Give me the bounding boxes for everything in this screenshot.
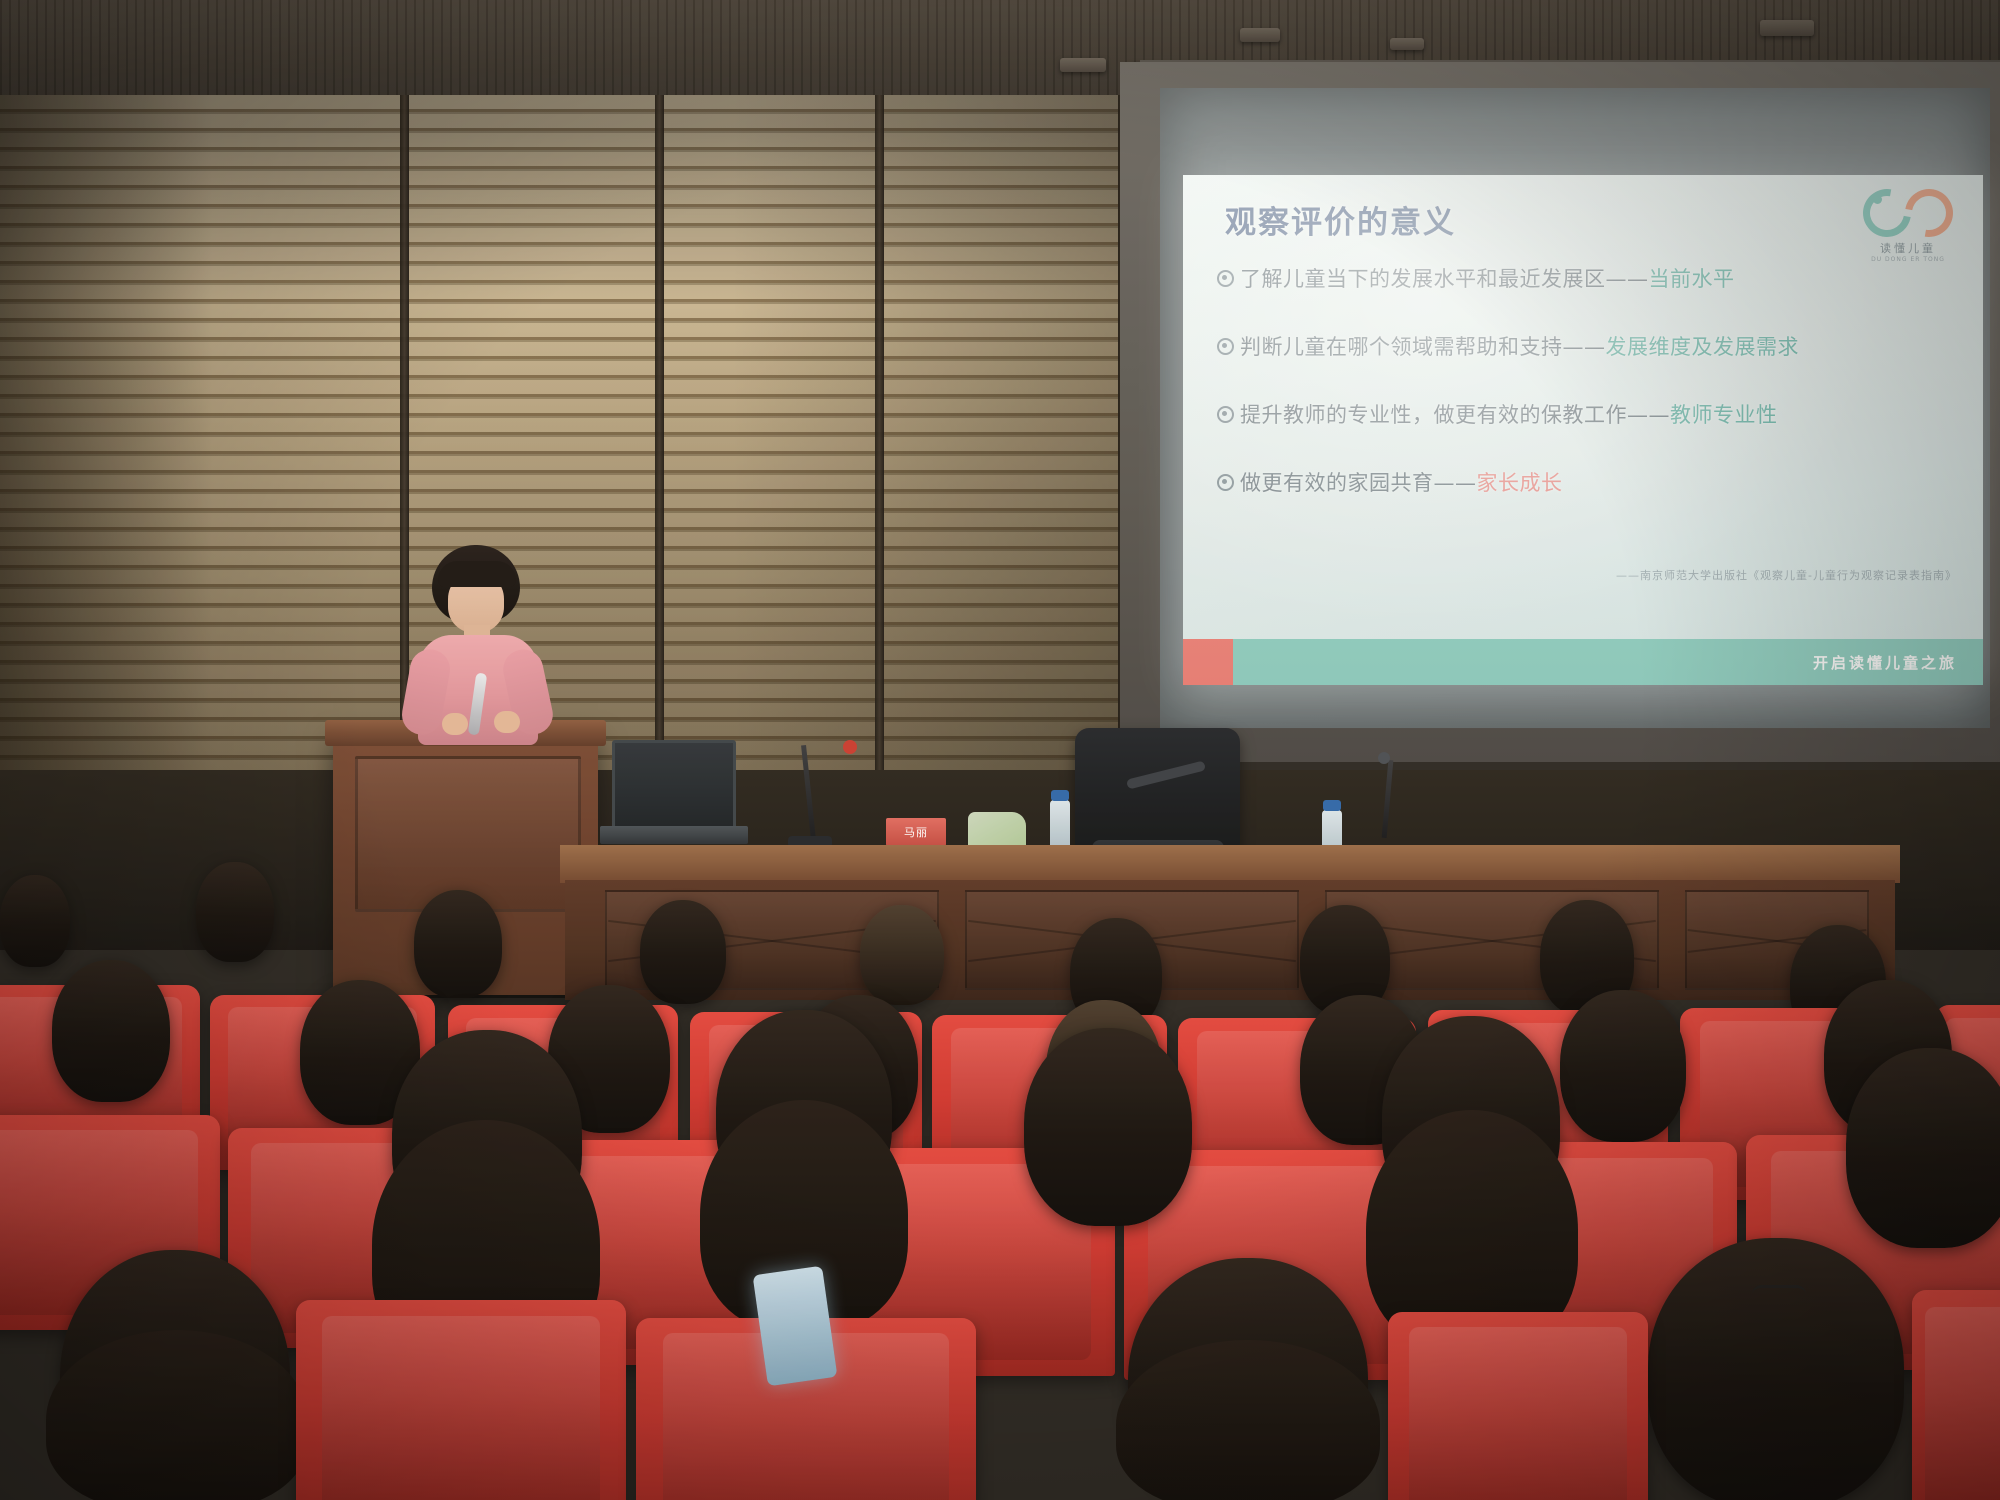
bullet-highlight: 教师专业性 — [1670, 403, 1778, 427]
ceiling-light-3 — [1060, 58, 1106, 72]
lecture-hall-photo: 观察评价的意义 读懂儿童 DU DONG ER TONG 了解儿童当下的发展水平… — [0, 0, 2000, 1500]
attendee-head — [414, 890, 502, 998]
conference-table-front — [565, 880, 1895, 1000]
bullet-text: 判断儿童在哪个领域需帮助和支持——发展维度及发展需求 — [1240, 331, 1799, 361]
auditorium-seat — [1388, 1312, 1648, 1500]
table-microphone-2-head-icon — [1378, 752, 1390, 764]
presenter — [390, 545, 570, 745]
presenter-bangs — [438, 561, 516, 587]
slide-citation: ——南京师范大学出版社《观察儿童-儿童行为观察记录表指南》 — [1616, 567, 1957, 583]
laptop-keyboard — [600, 826, 748, 844]
bullet-highlight: 发展维度及发展需求 — [1606, 335, 1800, 359]
ceiling-light-2 — [1390, 38, 1424, 50]
bullet-item: 了解儿童当下的发展水平和最近发展区——当前水平 — [1217, 263, 1957, 293]
footer-slogan: 开启读懂儿童之旅 — [1813, 652, 1983, 673]
nameplate: 马丽 — [886, 818, 946, 846]
bullet-dot-icon — [1217, 474, 1234, 491]
presenter-left-hand — [442, 713, 468, 735]
auditorium-seat — [296, 1300, 626, 1500]
attendee-head — [52, 960, 170, 1102]
logo-marks — [1863, 189, 1953, 237]
bullet-item: 提升教师的专业性，做更有效的保教工作——教师专业性 — [1217, 399, 1957, 429]
water-bottle-cap-2 — [1323, 800, 1341, 811]
presenter-right-hand — [494, 711, 520, 733]
attendee-head — [1846, 1048, 2000, 1248]
bullet-dot-icon — [1217, 338, 1234, 355]
attendee-hair — [1116, 1340, 1380, 1500]
podium-front-panel — [355, 756, 581, 912]
bullet-text: 做更有效的家园共育——家长成长 — [1240, 467, 1563, 497]
brand-logo: 读懂儿童 DU DONG ER TONG — [1863, 189, 1953, 263]
footer-teal-bar: 开启读懂儿童之旅 — [1233, 639, 1983, 685]
attendee-head — [860, 905, 944, 1005]
slide-bullet-list: 了解儿童当下的发展水平和最近发展区——当前水平 判断儿童在哪个领域需帮助和支持—… — [1217, 263, 1957, 535]
ceiling-light-4 — [1760, 20, 1814, 36]
bullet-item: 做更有效的家园共育——家长成长 — [1217, 467, 1957, 497]
presentation-slide: 观察评价的意义 读懂儿童 DU DONG ER TONG 了解儿童当下的发展水平… — [1183, 175, 1983, 685]
executive-chair-back — [1075, 728, 1240, 858]
bullet-text: 提升教师的专业性，做更有效的保教工作——教师专业性 — [1240, 399, 1778, 429]
water-bottle-cap-1 — [1051, 790, 1069, 801]
conference-table-top — [560, 845, 1900, 883]
bullet-text: 了解儿童当下的发展水平和最近发展区——当前水平 — [1240, 263, 1735, 293]
logo-circle-orange-icon — [1896, 180, 1963, 247]
table-microphone-head-icon — [843, 740, 857, 754]
wall-shading — [0, 95, 1180, 795]
bullet-highlight: 当前水平 — [1649, 267, 1735, 291]
slide-title: 观察评价的意义 — [1225, 197, 1456, 242]
nameplate-text: 马丽 — [904, 824, 928, 840]
logo-subtitle: DU DONG ER TONG — [1871, 256, 1945, 263]
attendee-head — [0, 875, 70, 967]
attendee-head — [1648, 1238, 1904, 1500]
ceiling-light-1 — [1240, 28, 1280, 42]
attendee-hair — [46, 1330, 308, 1500]
bullet-dot-icon — [1217, 270, 1234, 287]
eyeglasses-icon — [1752, 1285, 1806, 1304]
attendee-head — [640, 900, 726, 1004]
bullet-highlight: 家长成长 — [1477, 471, 1563, 495]
logo-name: 读懂儿童 — [1880, 240, 1936, 256]
bullet-item: 判断儿童在哪个领域需帮助和支持——发展维度及发展需求 — [1217, 331, 1957, 361]
wall-column-2 — [655, 95, 664, 795]
auditorium-seat — [1912, 1290, 2000, 1500]
wood-slat-wall — [0, 95, 1180, 795]
attendee-head — [1024, 1028, 1192, 1226]
attendee-head — [1560, 990, 1686, 1142]
logo-dot-icon — [1873, 195, 1882, 204]
laptop-screen — [612, 740, 736, 834]
slide-footer-bar: 开启读懂儿童之旅 — [1183, 639, 1983, 685]
attendee-head — [196, 862, 274, 962]
wall-column-3 — [875, 95, 884, 795]
bullet-dot-icon — [1217, 406, 1234, 423]
footer-accent-block — [1183, 639, 1233, 685]
